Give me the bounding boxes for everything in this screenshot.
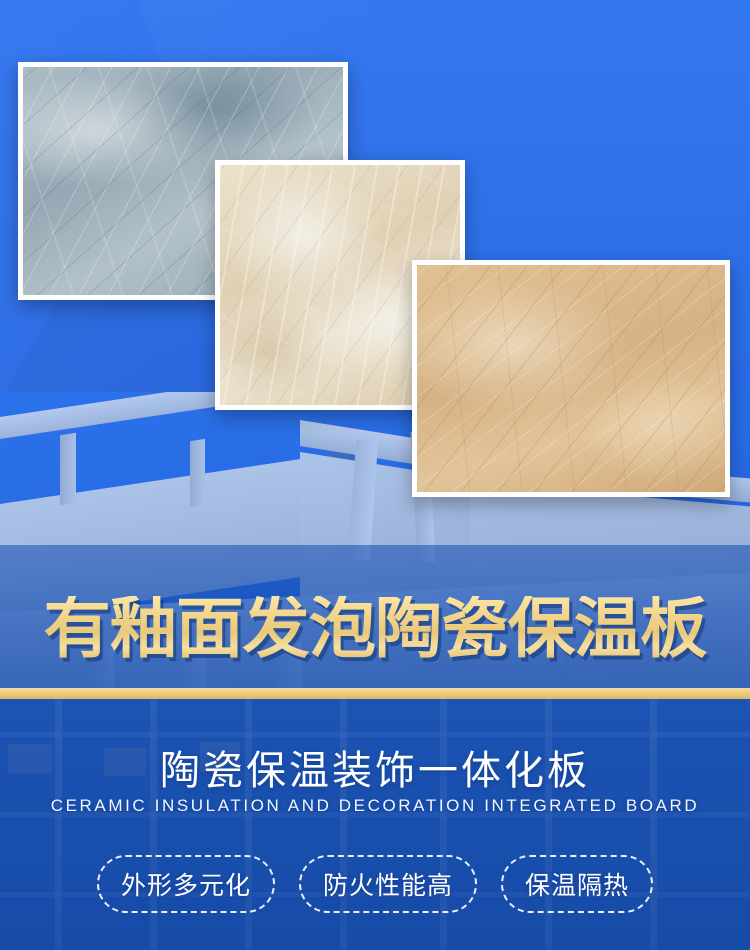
headline-text: 有釉面发泡陶瓷保温板 (44, 596, 707, 662)
product-banner: 有釉面发泡陶瓷保温板 陶瓷保温装饰一体化板 CERAMIC INSULATION… (0, 0, 750, 950)
tan-marble-tile (412, 260, 730, 497)
feature-tag-list: 外形多元化 防火性能高 保温隔热 (0, 855, 750, 913)
feature-tag-thermal-insulation[interactable]: 保温隔热 (501, 855, 653, 913)
subtitle-english: CERAMIC INSULATION AND DECORATION INTEGR… (0, 796, 750, 816)
tile-surface-tan (417, 265, 725, 492)
tile-grain-tan (417, 265, 725, 492)
headline-container: 有釉面发泡陶瓷保温板 (0, 588, 750, 670)
feature-tag-shape-diversity[interactable]: 外形多元化 (97, 855, 275, 913)
subtitle-chinese: 陶瓷保温装饰一体化板 (0, 738, 750, 796)
feature-tag-fire-resistance[interactable]: 防火性能高 (299, 855, 477, 913)
gold-divider-bar (0, 688, 750, 699)
